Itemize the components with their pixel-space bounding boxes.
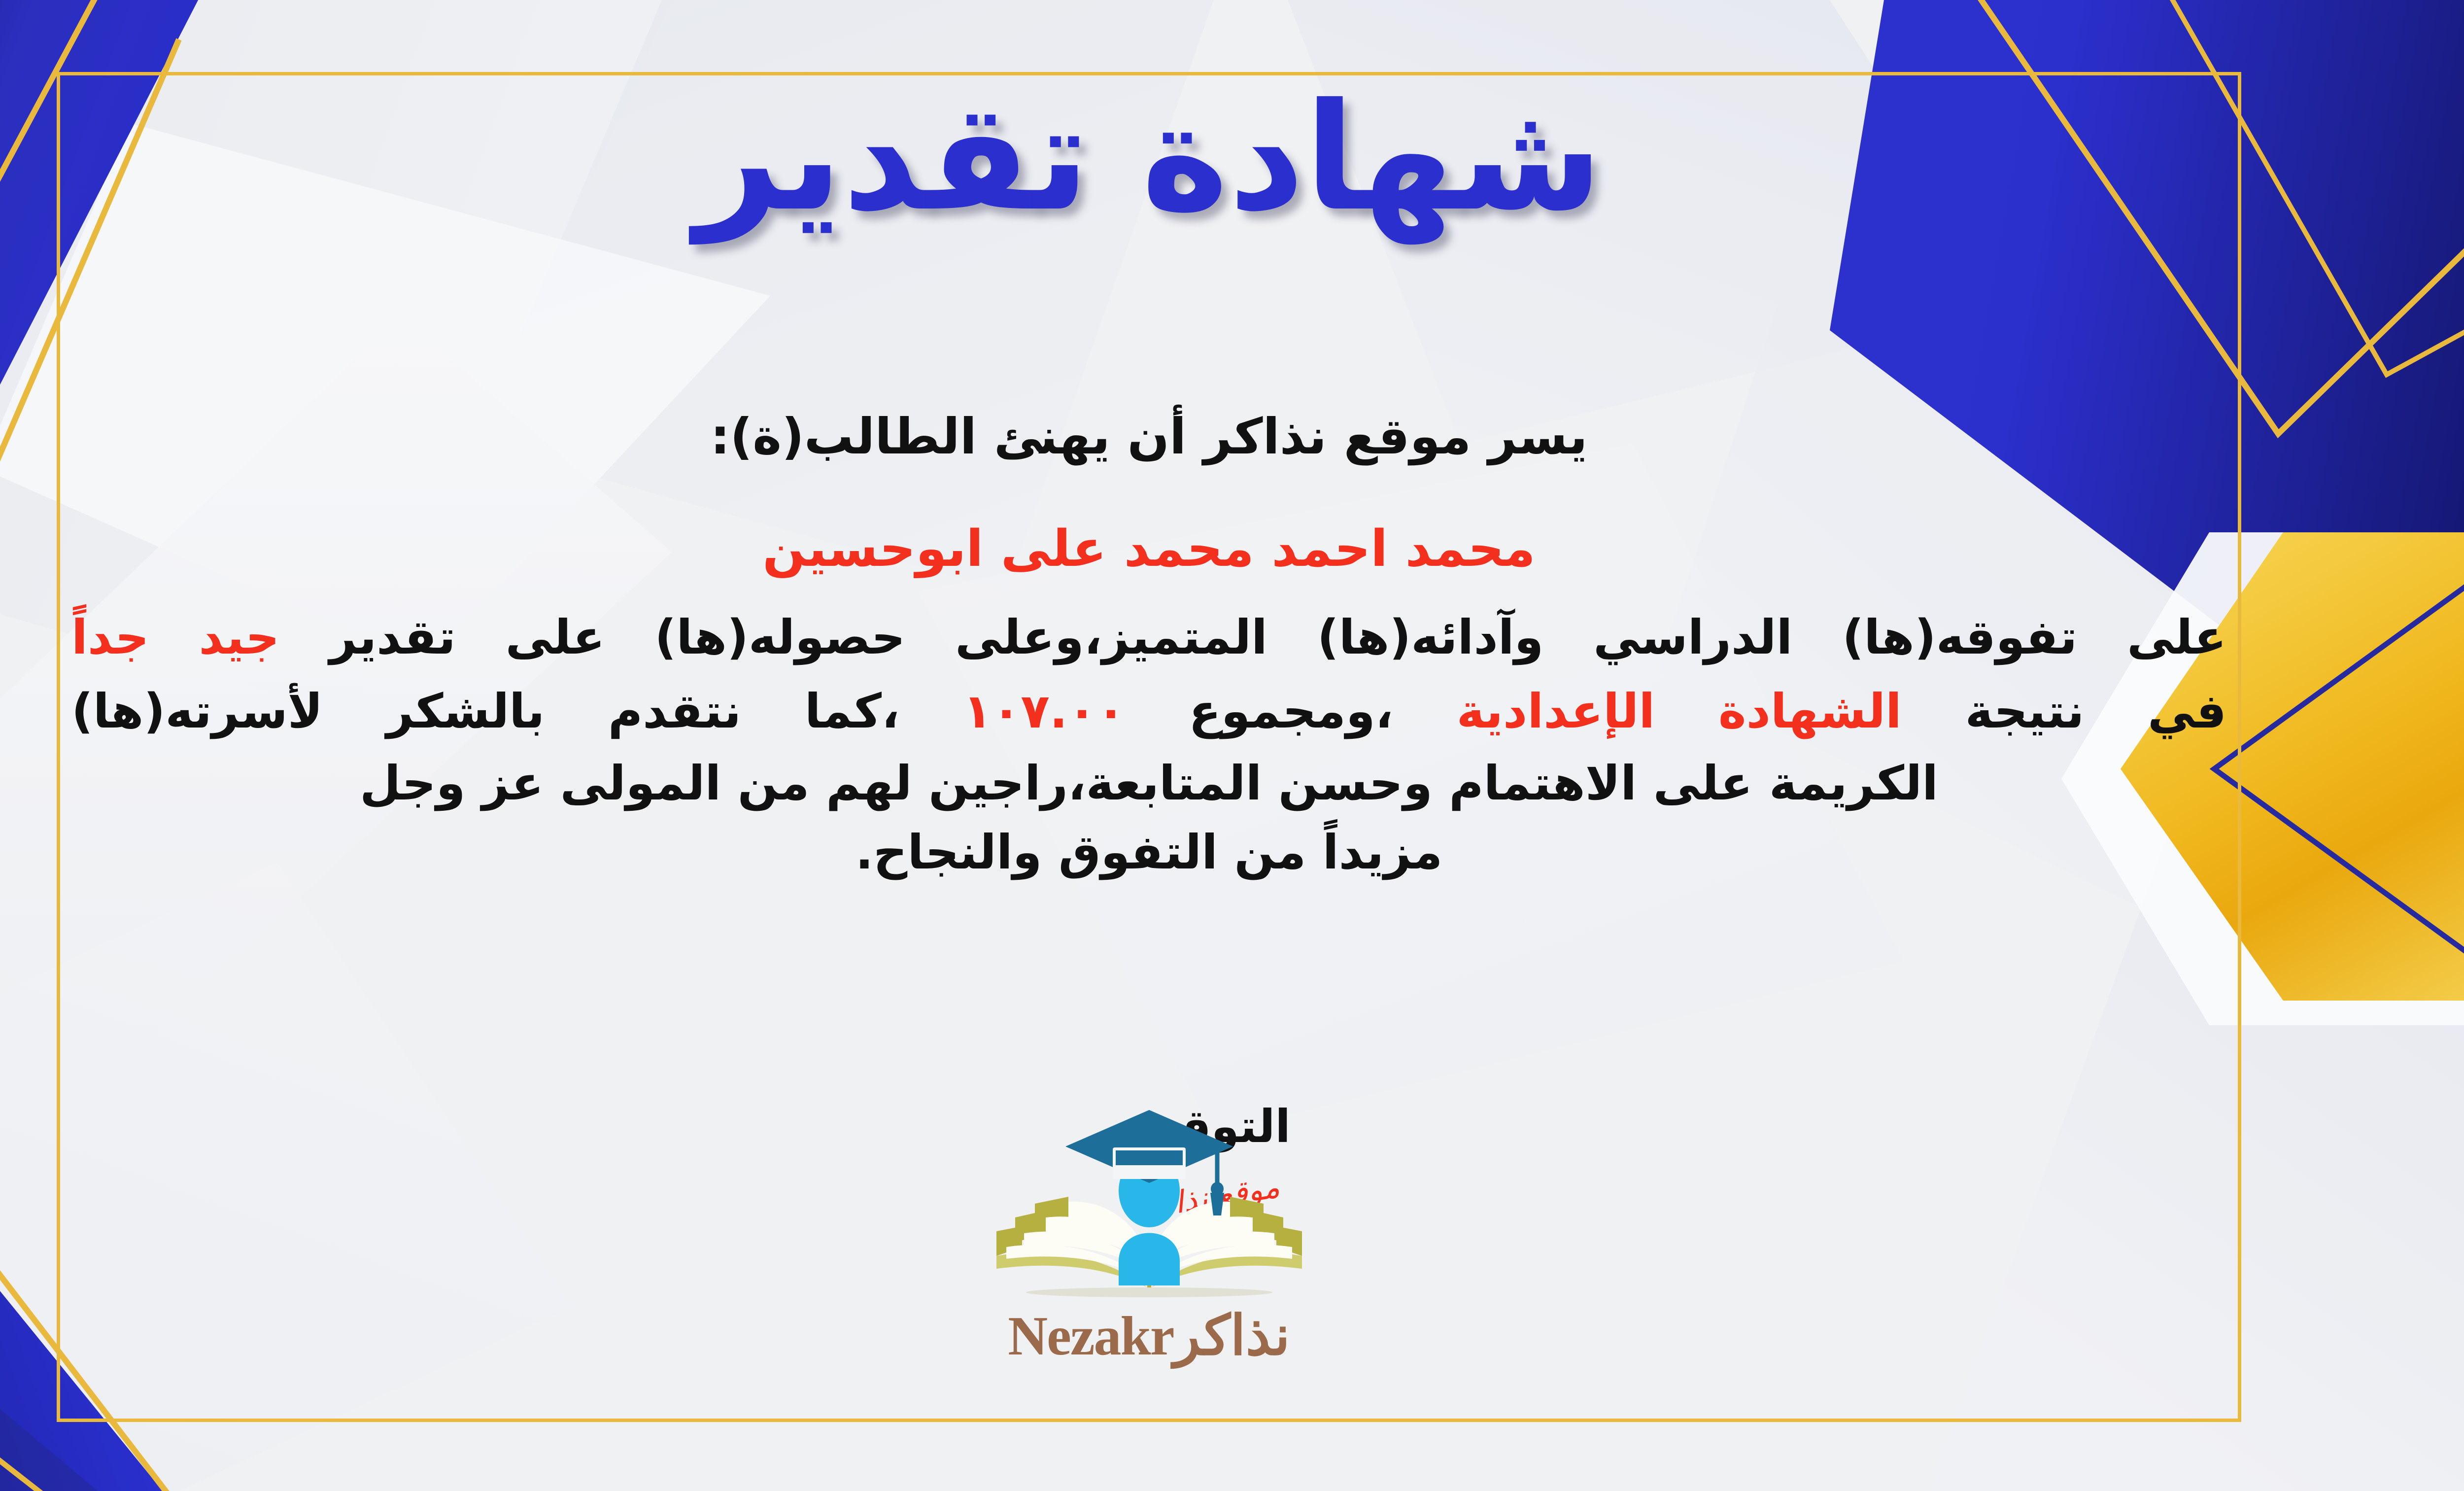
logo-wordmark: نذاكرNezakr	[962, 1303, 1336, 1368]
logo-graphic	[977, 1099, 1322, 1306]
family-thanks-line: الكريمة على الاهتمام وحسن المتابعة،راجين…	[71, 752, 2226, 815]
closing-wish-line: مزيداً من التفوق والنجاح.	[71, 821, 2226, 884]
brand-logo: نذاكرNezakr	[962, 1099, 1336, 1368]
page-title: شهادة تقدير	[57, 84, 2241, 232]
exam-name: الشهادة الإعدادية	[1457, 684, 1902, 739]
congratulations-line: يسر موقع نذاكر أن يهنئ الطالب(ة):	[71, 404, 2226, 469]
total-label: ،ومجموع	[1189, 684, 1393, 739]
certificate-content: شهادة تقدير يسر موقع نذاكر أن يهنئ الطال…	[57, 0, 2241, 1491]
exam-prefix: في نتيجة	[1965, 684, 2226, 739]
exam-result-line: في نتيجة الشهادة الإعدادية ،ومجموع ١٠٧.٠…	[71, 678, 2226, 745]
achievement-line: على تفوقه(ها) الدراسي وآدائه(ها) المتميز…	[71, 604, 2226, 671]
certificate-footer: التوقيع موقع نذاكر	[57, 1099, 2241, 1434]
grade-value: جيد جداً	[71, 610, 279, 665]
certificate-page: شهادة تقدير يسر موقع نذاكر أن يهنئ الطال…	[0, 0, 2464, 1491]
certificate-body: يسر موقع نذاكر أن يهنئ الطالب(ة): محمد ا…	[71, 404, 2226, 891]
thanks-prefix: ،كما نتقدم بالشكر لأسرته(ها)	[71, 684, 899, 739]
achievement-text: على تفوقه(ها) الدراسي وآدائه(ها) المتميز…	[329, 610, 2226, 665]
student-name: محمد احمد محمد على ابوحسين	[71, 520, 2226, 578]
total-score: ١٠٧.٠٠	[963, 684, 1125, 739]
logo-latin: Nezakr	[1008, 1306, 1173, 1367]
logo-arabic: نذاكر	[1174, 1303, 1290, 1368]
